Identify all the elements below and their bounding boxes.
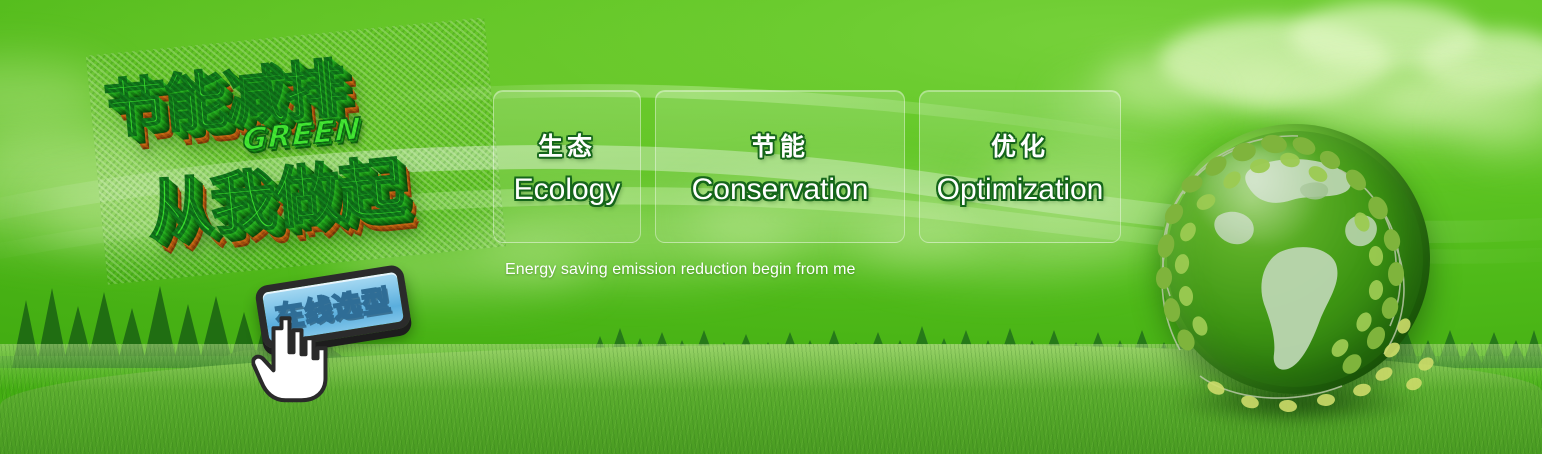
green-promo-banner: 节能减排 从我做起 GREEN 在线选型 生态 Ecology 节能 Conse… bbox=[0, 0, 1542, 454]
feature-card-cn-label: 节能 bbox=[751, 127, 809, 163]
feature-card-optimization[interactable]: 优化 Optimization bbox=[919, 90, 1121, 243]
headline-3d-title: 节能减排 从我做起 GREEN bbox=[86, 17, 506, 284]
feature-card-en-label: Ecology bbox=[514, 173, 621, 207]
feature-card-en-label: Optimization bbox=[937, 173, 1104, 207]
ivy-covered-globe bbox=[1140, 118, 1440, 430]
feature-card-en-label: Conservation bbox=[692, 173, 869, 207]
globe-sphere bbox=[1160, 124, 1430, 394]
feature-card-group: 生态 Ecology 节能 Conservation 优化 Optimizati… bbox=[493, 90, 1121, 243]
tagline-text: Energy saving emission reduction begin f… bbox=[505, 261, 856, 279]
feature-card-conservation[interactable]: 节能 Conservation bbox=[655, 90, 905, 243]
feature-card-ecology[interactable]: 生态 Ecology bbox=[493, 90, 641, 243]
globe-specular-highlight bbox=[1198, 146, 1338, 243]
pointing-hand-cursor-icon bbox=[251, 312, 329, 404]
feature-card-cn-label: 优化 bbox=[991, 127, 1049, 163]
feature-card-cn-label: 生态 bbox=[538, 127, 596, 163]
